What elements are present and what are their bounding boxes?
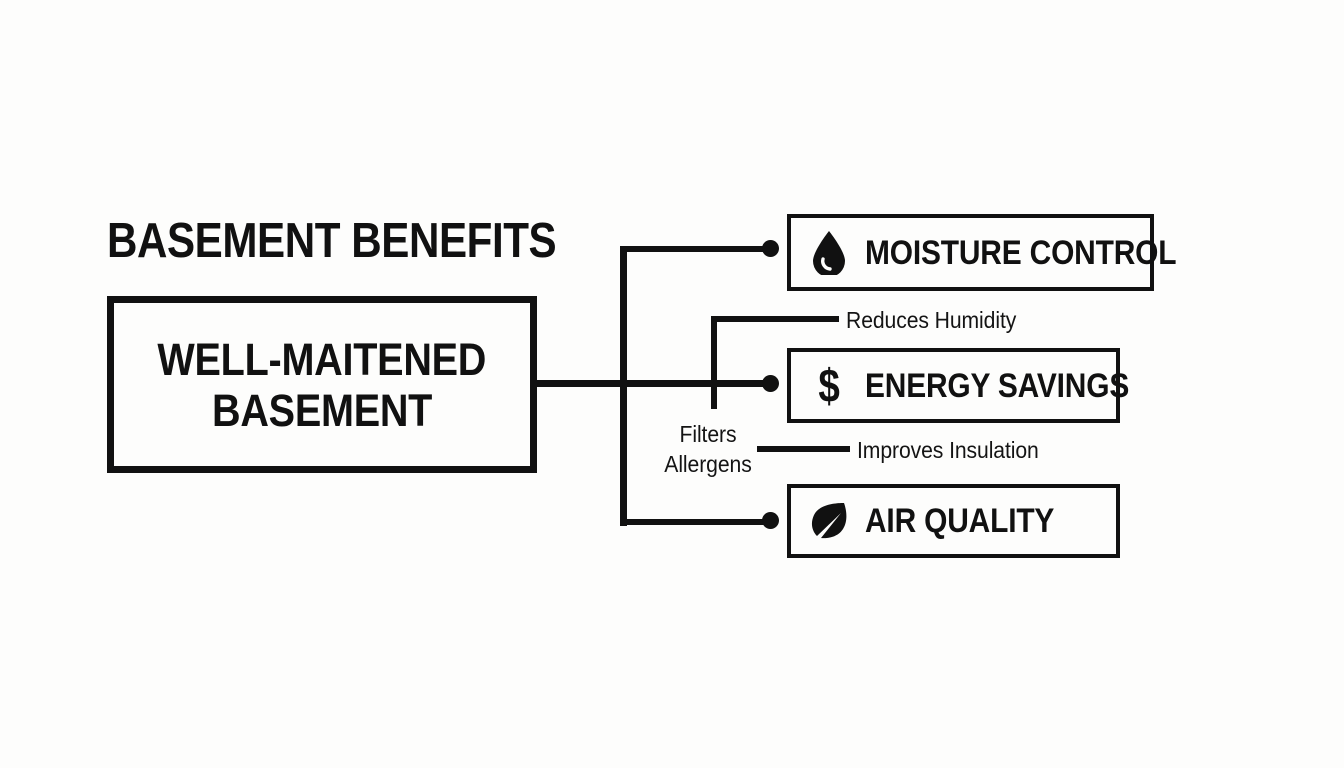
benefit-node-energy-savings[interactable]: $ ENERGY SAVINGS bbox=[787, 348, 1120, 423]
connector-root-stem bbox=[537, 380, 768, 387]
root-node-well-maintained-basement[interactable]: WELL-MAITENED BASEMENT bbox=[107, 296, 537, 473]
connector-branch-air bbox=[620, 519, 768, 525]
root-node-label-line1: WELL-MAITENED bbox=[158, 334, 487, 385]
dollar-sign-icon: $ bbox=[807, 361, 851, 411]
water-drop-icon bbox=[807, 228, 851, 278]
connector-dot-energy bbox=[762, 375, 779, 392]
connector-annotation-riser bbox=[711, 316, 717, 409]
root-node-label-line2: BASEMENT bbox=[212, 385, 432, 436]
benefit-label-air-quality: AIR QUALITY bbox=[865, 504, 1054, 538]
connector-leader-improves-insulation bbox=[757, 446, 850, 452]
benefit-node-air-quality[interactable]: AIR QUALITY bbox=[787, 484, 1120, 558]
page-title: BASEMENT BENEFITS bbox=[107, 215, 556, 267]
connector-leader-reduces-humidity bbox=[711, 316, 839, 322]
benefit-label-energy-savings: ENERGY SAVINGS bbox=[865, 369, 1129, 403]
connector-trunk-vertical bbox=[620, 246, 627, 526]
annotation-reduces-humidity: Reduces Humidity bbox=[846, 305, 1016, 335]
connector-dot-moisture bbox=[762, 240, 779, 257]
annotation-filters-allergens-line1: Filters bbox=[680, 421, 737, 447]
annotation-filters-allergens-line2: Allergens bbox=[664, 451, 751, 477]
benefit-node-moisture-control[interactable]: MOISTURE CONTROL bbox=[787, 214, 1154, 291]
annotation-filters-allergens: Filters Allergens bbox=[662, 419, 754, 479]
benefit-label-moisture-control: MOISTURE CONTROL bbox=[865, 236, 1176, 270]
leaf-icon bbox=[807, 496, 851, 546]
diagram-canvas: BASEMENT BENEFITS WELL-MAITENED BASEMENT… bbox=[0, 0, 1344, 768]
connector-branch-moisture bbox=[620, 246, 768, 252]
annotation-improves-insulation: Improves Insulation bbox=[857, 435, 1039, 465]
connector-dot-air bbox=[762, 512, 779, 529]
